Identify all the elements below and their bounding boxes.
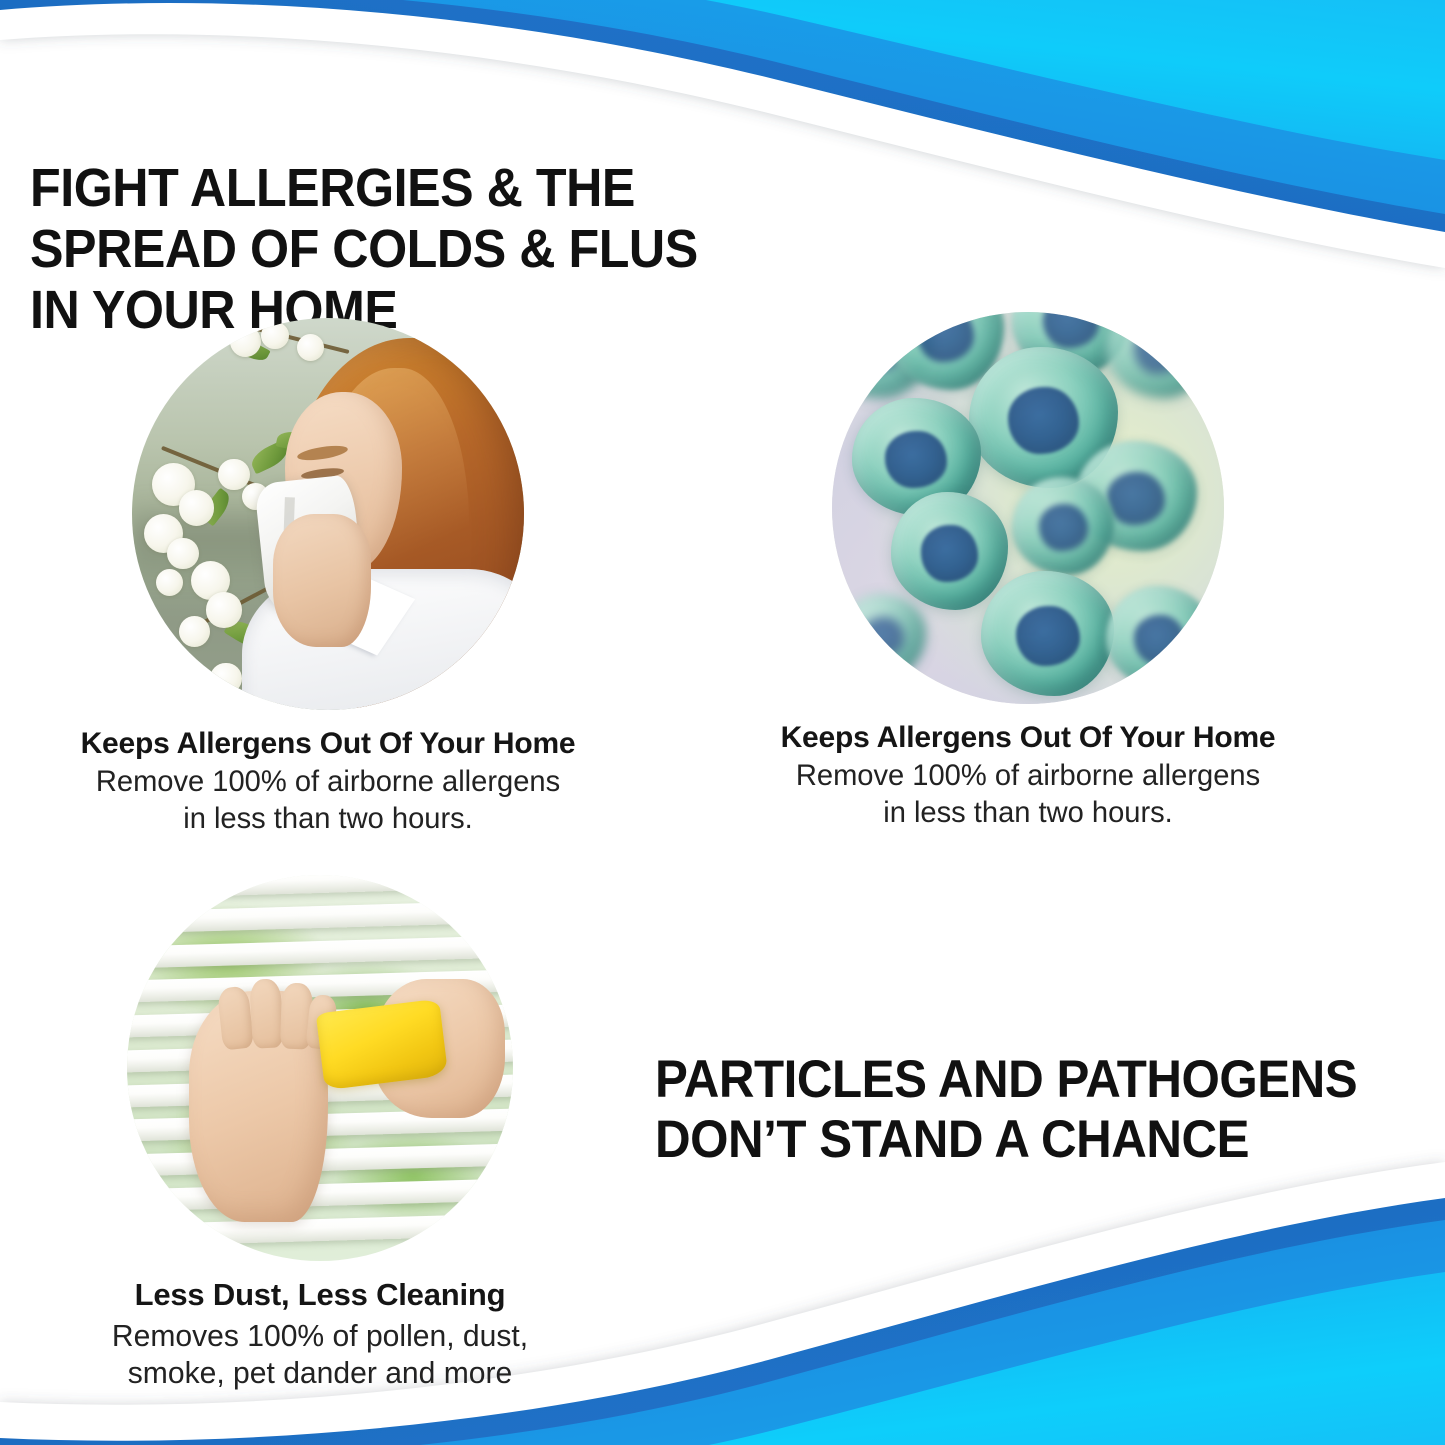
infographic-poster: FIGHT ALLERGIES & THE SPREAD OF COLDS & … [0,0,1445,1445]
caption-title-allergens: Keeps Allergens Out Of Your Home [18,726,638,761]
caption-body-pathogens: Remove 100% of airborne allergens in les… [727,758,1328,831]
caption-body-dust: Removes 100% of pollen, dust, smoke, pet… [19,1317,620,1393]
microscopic-pathogens-photo [832,312,1224,704]
feature-pathogens: Keeps Allergens Out Of Your Home Remove … [718,312,1338,832]
hands-cleaning-window-blinds-photo [127,875,513,1261]
page-title-top: FIGHT ALLERGIES & THE SPREAD OF COLDS & … [30,158,737,341]
feature-dust: Less Dust, Less Cleaning Removes 100% of… [10,875,630,1392]
caption-title-dust: Less Dust, Less Cleaning [10,1277,630,1314]
page-title-bottom: PARTICLES AND PATHOGENS DON’T STAND A CH… [655,1050,1390,1170]
caption-title-pathogens: Keeps Allergens Out Of Your Home [718,720,1338,755]
woman-sneezing-into-tissue-photo [132,318,524,710]
top-wave-cyan-body [0,0,1445,160]
caption-body-allergens: Remove 100% of airborne allergens in les… [27,764,628,837]
feature-allergens: Keeps Allergens Out Of Your Home Remove … [18,318,638,838]
